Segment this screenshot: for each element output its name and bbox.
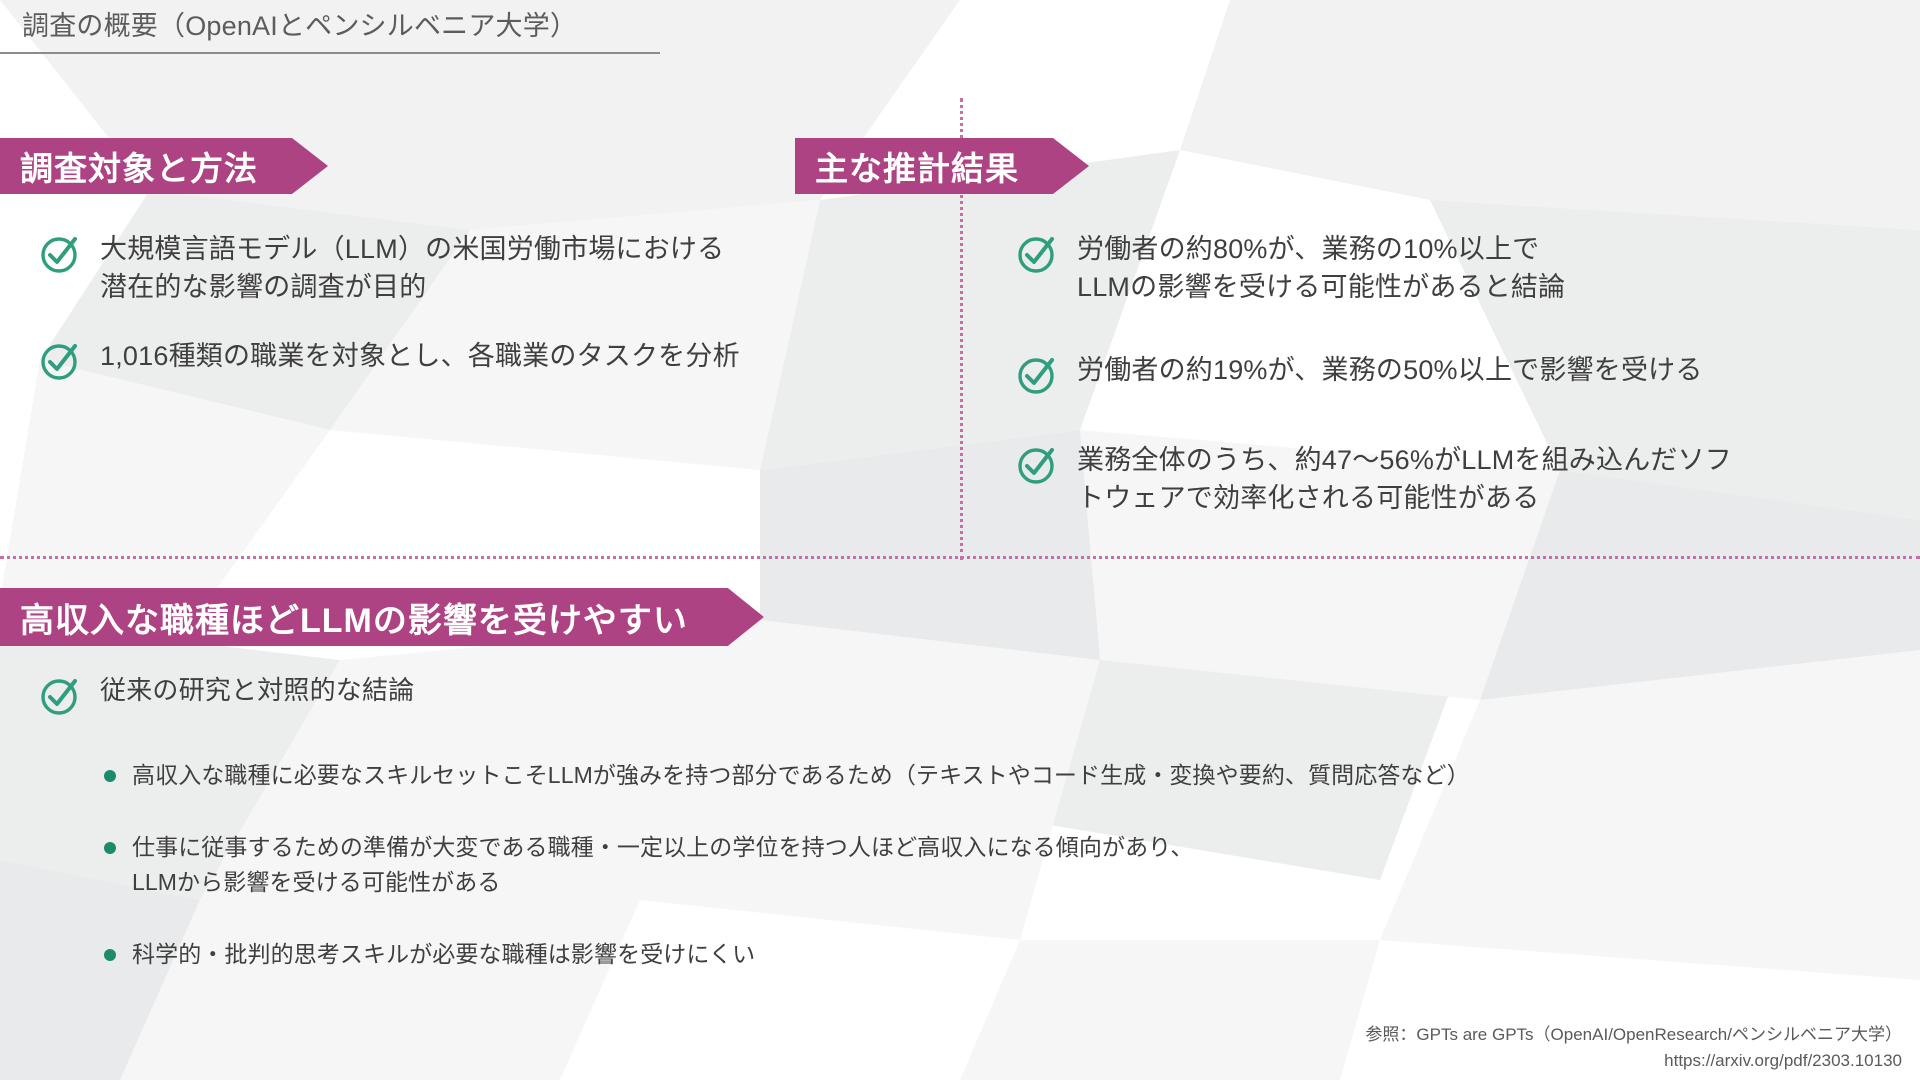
banner-label: 調査対象と方法: [20, 142, 258, 190]
list-item-label: 大規模言語モデル（LLM）の米国労働市場における 潜在的な影響の調査が目的: [100, 230, 724, 307]
check-circle-icon: [38, 674, 82, 718]
list-item-label: 業務全体のうち、約47〜56%がLLMを組み込んだソフ トウェアで効率化される可…: [1077, 441, 1732, 518]
bullet-dot-icon: [104, 770, 116, 782]
page-title: 調査の概要（OpenAIとペンシルベニア大学）: [22, 8, 577, 44]
survey-method-list: 大規模言語モデル（LLM）の米国労働市場における 潜在的な影響の調査が目的 1,…: [38, 230, 928, 413]
list-item-label: 労働者の約19%が、業務の50%以上で影響を受ける: [1077, 351, 1703, 389]
list-item-label: 1,016種類の職業を対象とし、各職業のタスクを分析: [100, 337, 740, 375]
list-item-label: 労働者の約80%が、業務の10%以上で LLMの影響を受ける可能性があると結論: [1077, 230, 1565, 307]
check-circle-icon: [38, 232, 82, 276]
list-item-label: 科学的・批判的思考スキルが必要な職種は影響を受けにくい: [132, 937, 755, 973]
footer-source-citation: 参照：GPTs are GPTs（OpenAI/OpenResearch/ペンシ…: [1365, 1022, 1902, 1048]
check-circle-icon: [1015, 443, 1059, 487]
bullet-dot-icon: [104, 842, 116, 854]
list-item-label: 仕事に従事するための準備が大変である職種・一定以上の学位を持つ人ほど高収入になる…: [132, 830, 1193, 901]
high-income-sub-list: 高収入な職種に必要なスキルセットこそLLMが強みを持つ部分であるため（テキストや…: [104, 758, 1904, 1009]
check-circle-icon: [1015, 232, 1059, 276]
banner-label: 主な推計結果: [815, 142, 1019, 190]
section-banner-high-income: 高収入な職種ほどLLMの影響を受けやすい: [0, 588, 764, 646]
check-circle-icon: [38, 339, 82, 383]
list-item: 仕事に従事するための準備が大変である職種・一定以上の学位を持つ人ほど高収入になる…: [104, 830, 1904, 901]
footer-source-url[interactable]: https://arxiv.org/pdf/2303.10130: [1664, 1048, 1902, 1074]
high-income-list: 従来の研究と対照的な結論: [38, 672, 1238, 718]
list-item-label: 高収入な職種に必要なスキルセットこそLLMが強みを持つ部分であるため（テキストや…: [132, 758, 1470, 794]
list-item: 1,016種類の職業を対象とし、各職業のタスクを分析: [38, 337, 928, 383]
list-item: 業務全体のうち、約47〜56%がLLMを組み込んだソフ トウェアで効率化される可…: [1015, 441, 1895, 518]
list-item-label: 従来の研究と対照的な結論: [100, 672, 414, 709]
list-item: 労働者の約19%が、業務の50%以上で影響を受ける: [1015, 351, 1895, 397]
title-underline: [0, 52, 660, 54]
check-circle-icon: [1015, 353, 1059, 397]
list-item: 高収入な職種に必要なスキルセットこそLLMが強みを持つ部分であるため（テキストや…: [104, 758, 1904, 794]
list-item: 従来の研究と対照的な結論: [38, 672, 1238, 718]
list-item: 大規模言語モデル（LLM）の米国労働市場における 潜在的な影響の調査が目的: [38, 230, 928, 307]
banner-label: 高収入な職種ほどLLMの影響を受けやすい: [20, 593, 688, 642]
bullet-dot-icon: [104, 949, 116, 961]
section-banner-survey-method: 調査対象と方法: [0, 138, 328, 194]
main-results-list: 労働者の約80%が、業務の10%以上で LLMの影響を受ける可能性があると結論 …: [1015, 230, 1895, 561]
list-item: 科学的・批判的思考スキルが必要な職種は影響を受けにくい: [104, 937, 1904, 973]
list-item: 労働者の約80%が、業務の10%以上で LLMの影響を受ける可能性があると結論: [1015, 230, 1895, 307]
section-banner-main-results: 主な推計結果: [795, 138, 1089, 194]
